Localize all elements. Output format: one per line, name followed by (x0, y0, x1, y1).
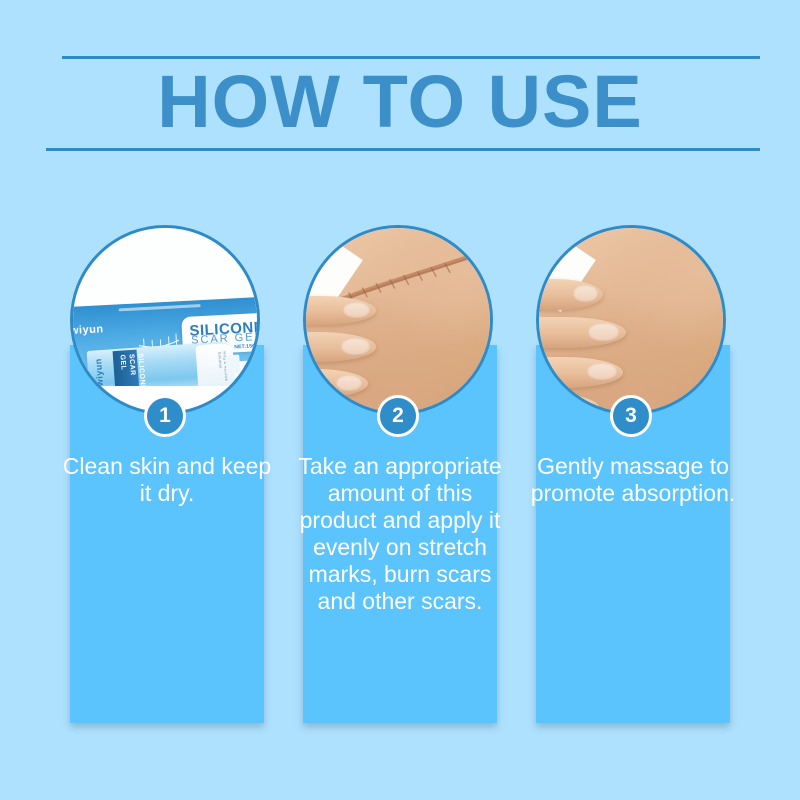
hand-fingers (303, 291, 387, 415)
fingernail-3 (587, 363, 617, 380)
box-top-strip (118, 303, 200, 310)
finger-2 (536, 317, 626, 348)
finger-3 (303, 369, 368, 398)
step-image-3 (536, 225, 726, 415)
step-image-2 (303, 225, 493, 415)
step-caption-3: Gently massage to promote absorption. (528, 453, 738, 507)
finger-1 (303, 296, 376, 325)
title-rule-bottom (46, 148, 760, 151)
finger-2 (303, 332, 376, 361)
fingernail-2 (341, 338, 370, 354)
fingernail-2 (588, 323, 619, 340)
finger-4 (536, 394, 600, 415)
page-title: HOW TO USE (0, 58, 800, 146)
scarred-skin-photo (306, 228, 490, 412)
step-badge-1: 1 (144, 395, 186, 437)
step-badge-2: 2 (377, 395, 419, 437)
step-badge-3: 3 (610, 395, 652, 437)
fingernail-3 (336, 375, 362, 391)
fingernail-1 (573, 285, 597, 302)
hand-fingers (536, 276, 635, 415)
massaging-skin-photo (539, 228, 723, 412)
step-caption-1: Clean skin and keep it dry. (62, 453, 272, 507)
finger-1 (536, 279, 603, 310)
step-image-1: wiyun SILICONE SCAR GEL NET:15G/0.53OZ w… (70, 225, 260, 415)
header: HOW TO USE (0, 0, 800, 190)
steps-container: wiyun SILICONE SCAR GEL NET:15G/0.53OZ w… (0, 225, 800, 725)
step-caption-2: Take an appropriate amount of this produ… (295, 453, 505, 615)
fingernail-1 (343, 302, 371, 318)
tube-nozzle (225, 355, 241, 374)
product-package-artwork: wiyun SILICONE SCAR GEL NET:15G/0.53OZ w… (73, 228, 257, 412)
box-brand-label: wiyun (70, 322, 104, 336)
finger-3 (536, 357, 623, 388)
tube-brand-label: wiyun (92, 357, 104, 386)
